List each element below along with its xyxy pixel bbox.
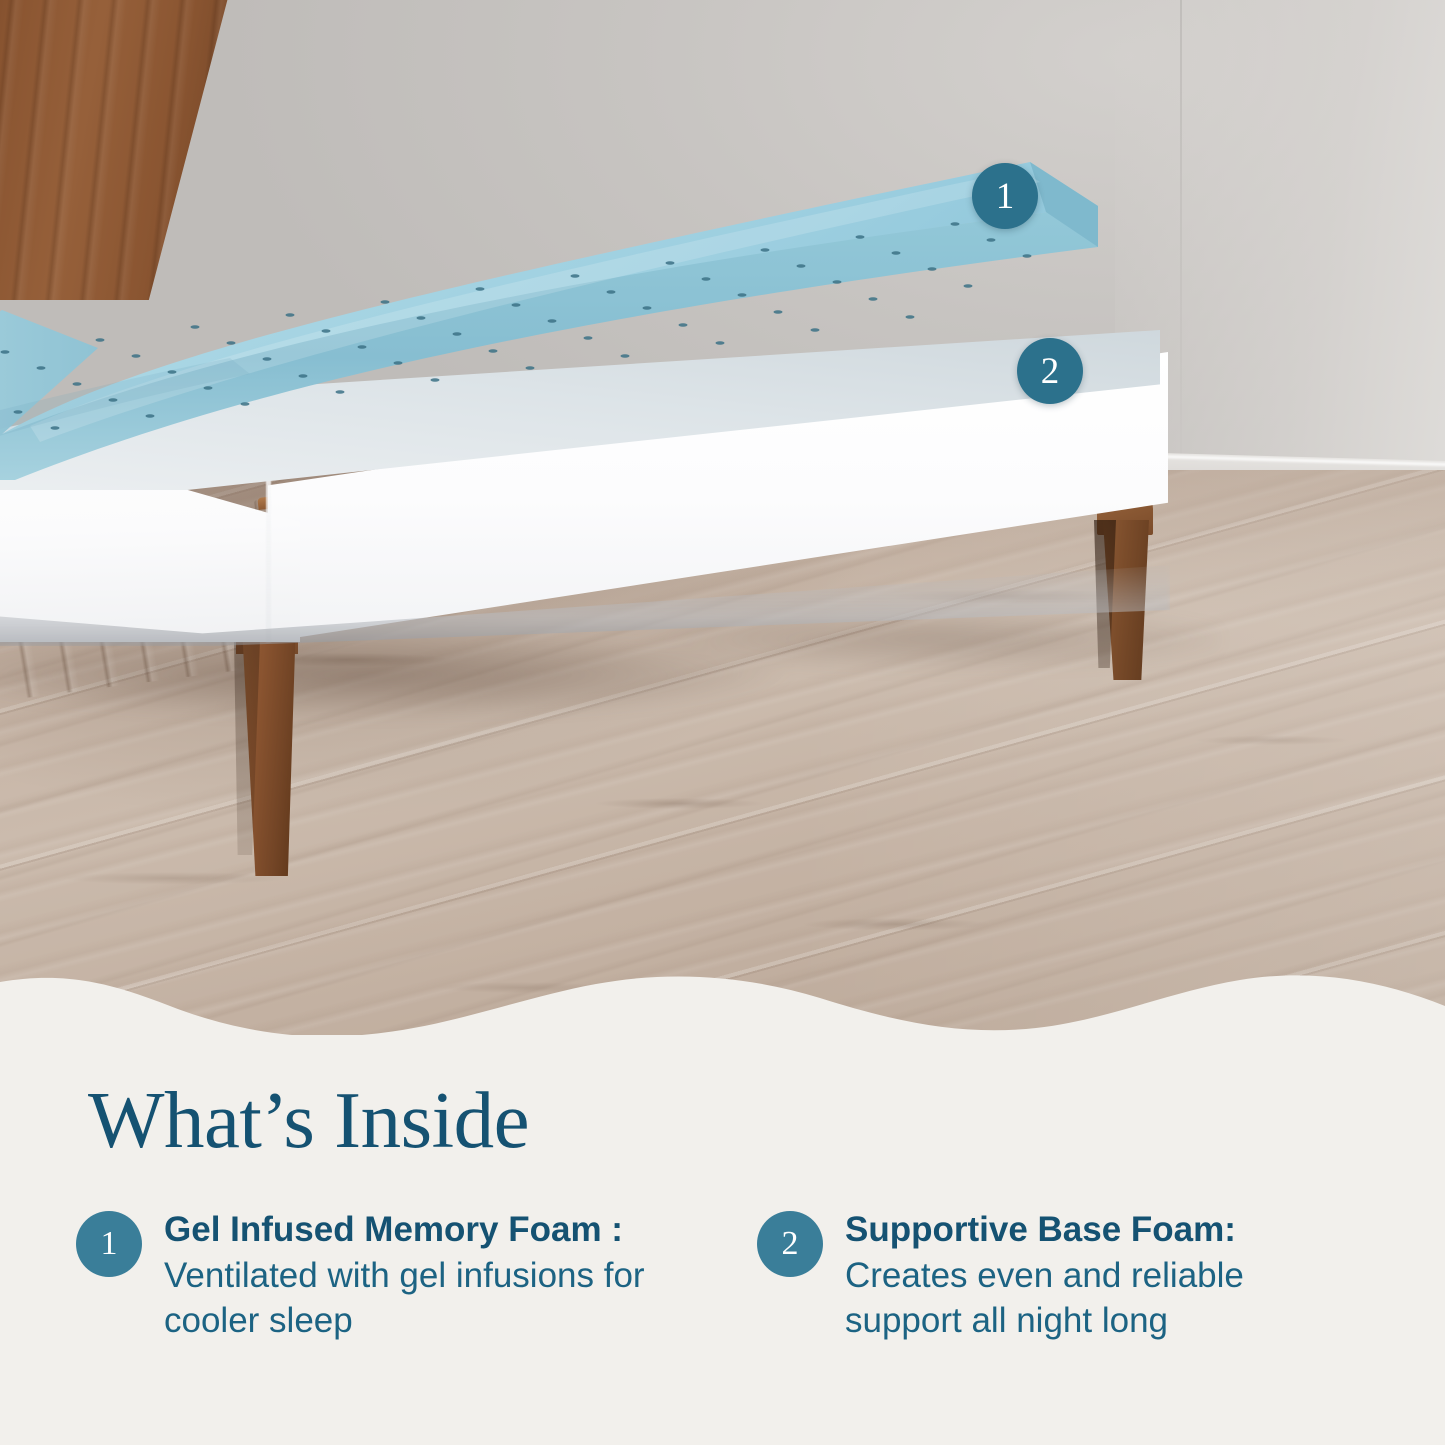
feature-label-2: Supportive Base Foam: xyxy=(845,1210,1236,1249)
product-photo: 1 2 xyxy=(0,0,1445,1040)
feature-description-2: Creates even and reliable support all ni… xyxy=(845,1256,1244,1341)
callout-badge-1[interactable]: 1 xyxy=(972,163,1038,229)
feature-text-2: Supportive Base Foam: Creates even and r… xyxy=(845,1207,1342,1344)
feature-text-1: Gel Infused Memory Foam : Ventilated wit… xyxy=(164,1207,661,1344)
feature-badge-1: 1 xyxy=(76,1211,142,1277)
feature-badge-2: 2 xyxy=(757,1211,823,1277)
feature-description-1: Ventilated with gel infusions for cooler… xyxy=(164,1256,645,1341)
feature-label-1: Gel Infused Memory Foam : xyxy=(164,1210,623,1249)
callout-badge-1-number: 1 xyxy=(996,178,1015,215)
callout-badge-2-number: 2 xyxy=(1041,353,1060,390)
page-title: What’s Inside xyxy=(88,1080,529,1161)
feature-badge-1-number: 1 xyxy=(101,1227,118,1261)
feature-badge-2-number: 2 xyxy=(782,1227,799,1261)
infographic-card: 1 2 What’s Inside 1 Gel Infused Memory F… xyxy=(0,0,1445,1445)
whats-inside-panel: What’s Inside 1 Gel Infused Memory Foam … xyxy=(0,1035,1445,1445)
feature-list: 1 Gel Infused Memory Foam : Ventilated w… xyxy=(76,1207,1376,1344)
callout-badge-2[interactable]: 2 xyxy=(1017,338,1083,404)
wall-corner-line xyxy=(1180,0,1182,470)
feature-item-1: 1 Gel Infused Memory Foam : Ventilated w… xyxy=(76,1207,661,1344)
feature-item-2: 2 Supportive Base Foam: Creates even and… xyxy=(757,1207,1342,1344)
